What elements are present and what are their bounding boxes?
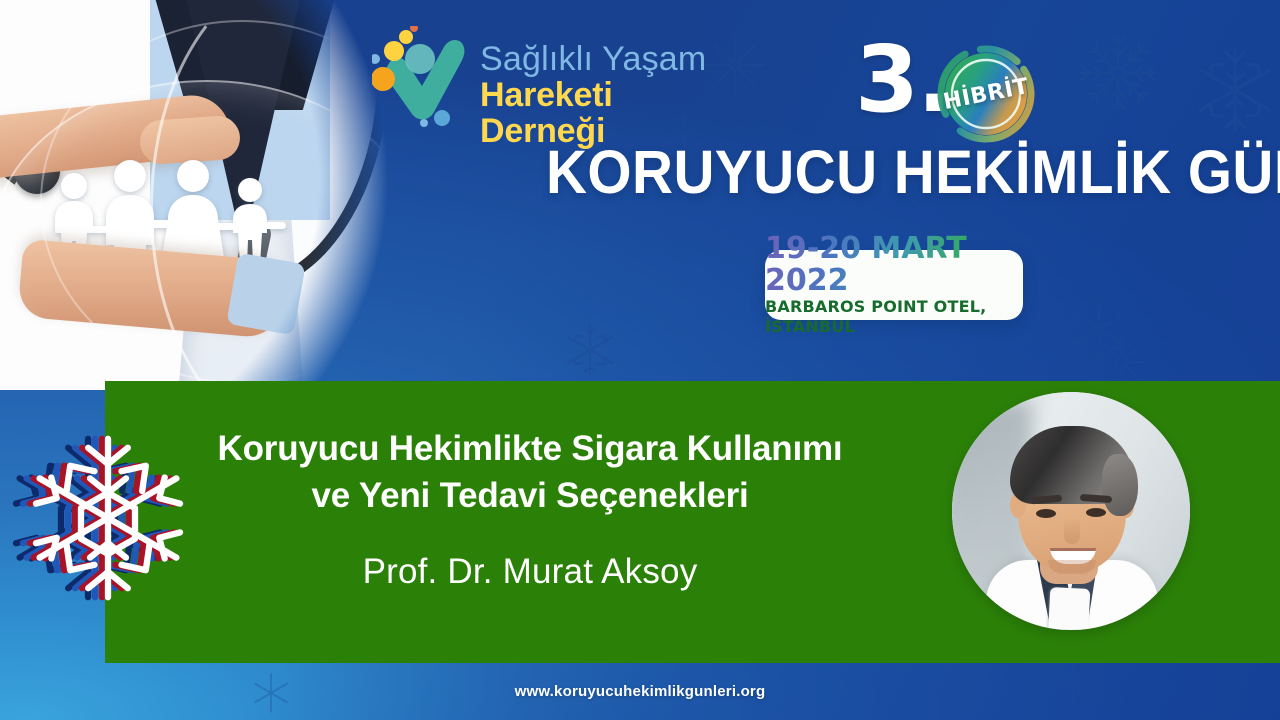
session-title-line-2: ve Yeni Tedavi Seçenekleri — [150, 472, 910, 519]
logo-line-1: Sağlıklı Yaşam — [480, 42, 742, 77]
association-logo[interactable]: Sağlıklı Yaşam Hareketi Derneği — [372, 22, 742, 132]
session-title: Koruyucu Hekimlikte Sigara Kullanımı ve … — [150, 425, 910, 519]
hibrit-badge-label: HİBRİT — [927, 35, 1044, 152]
event-title: KORUYUCU HEKİMLİK GÜNLERİ — [546, 140, 1197, 204]
event-venue: BARBAROS POINT OTEL, İSTANBUL — [765, 297, 1023, 337]
hibrit-badge: HİBRİT — [936, 44, 1036, 144]
footer-bar: www.koruyucuhekimlikgunleri.org — [0, 663, 1280, 720]
checkmark-swoosh-icon — [372, 26, 482, 130]
snowflake-large-icon — [18, 428, 198, 608]
event-banner: Sağlıklı Yaşam Hareketi Derneği 3. — [0, 0, 1280, 720]
website-url[interactable]: www.koruyucuhekimlikgunleri.org — [515, 683, 766, 700]
event-dates: 19-20 MART 2022 — [765, 233, 1023, 297]
session-speaker-name: Prof. Dr. Murat Aksoy — [150, 552, 910, 592]
hero-photo-doctor-family — [0, 0, 392, 390]
speaker-avatar — [952, 392, 1190, 630]
date-venue-badge: 19-20 MART 2022 BARBAROS POINT OTEL, İST… — [765, 250, 1023, 320]
session-title-line-1: Koruyucu Hekimlikte Sigara Kullanımı — [150, 425, 910, 472]
dot-grid-decor — [28, 366, 92, 382]
